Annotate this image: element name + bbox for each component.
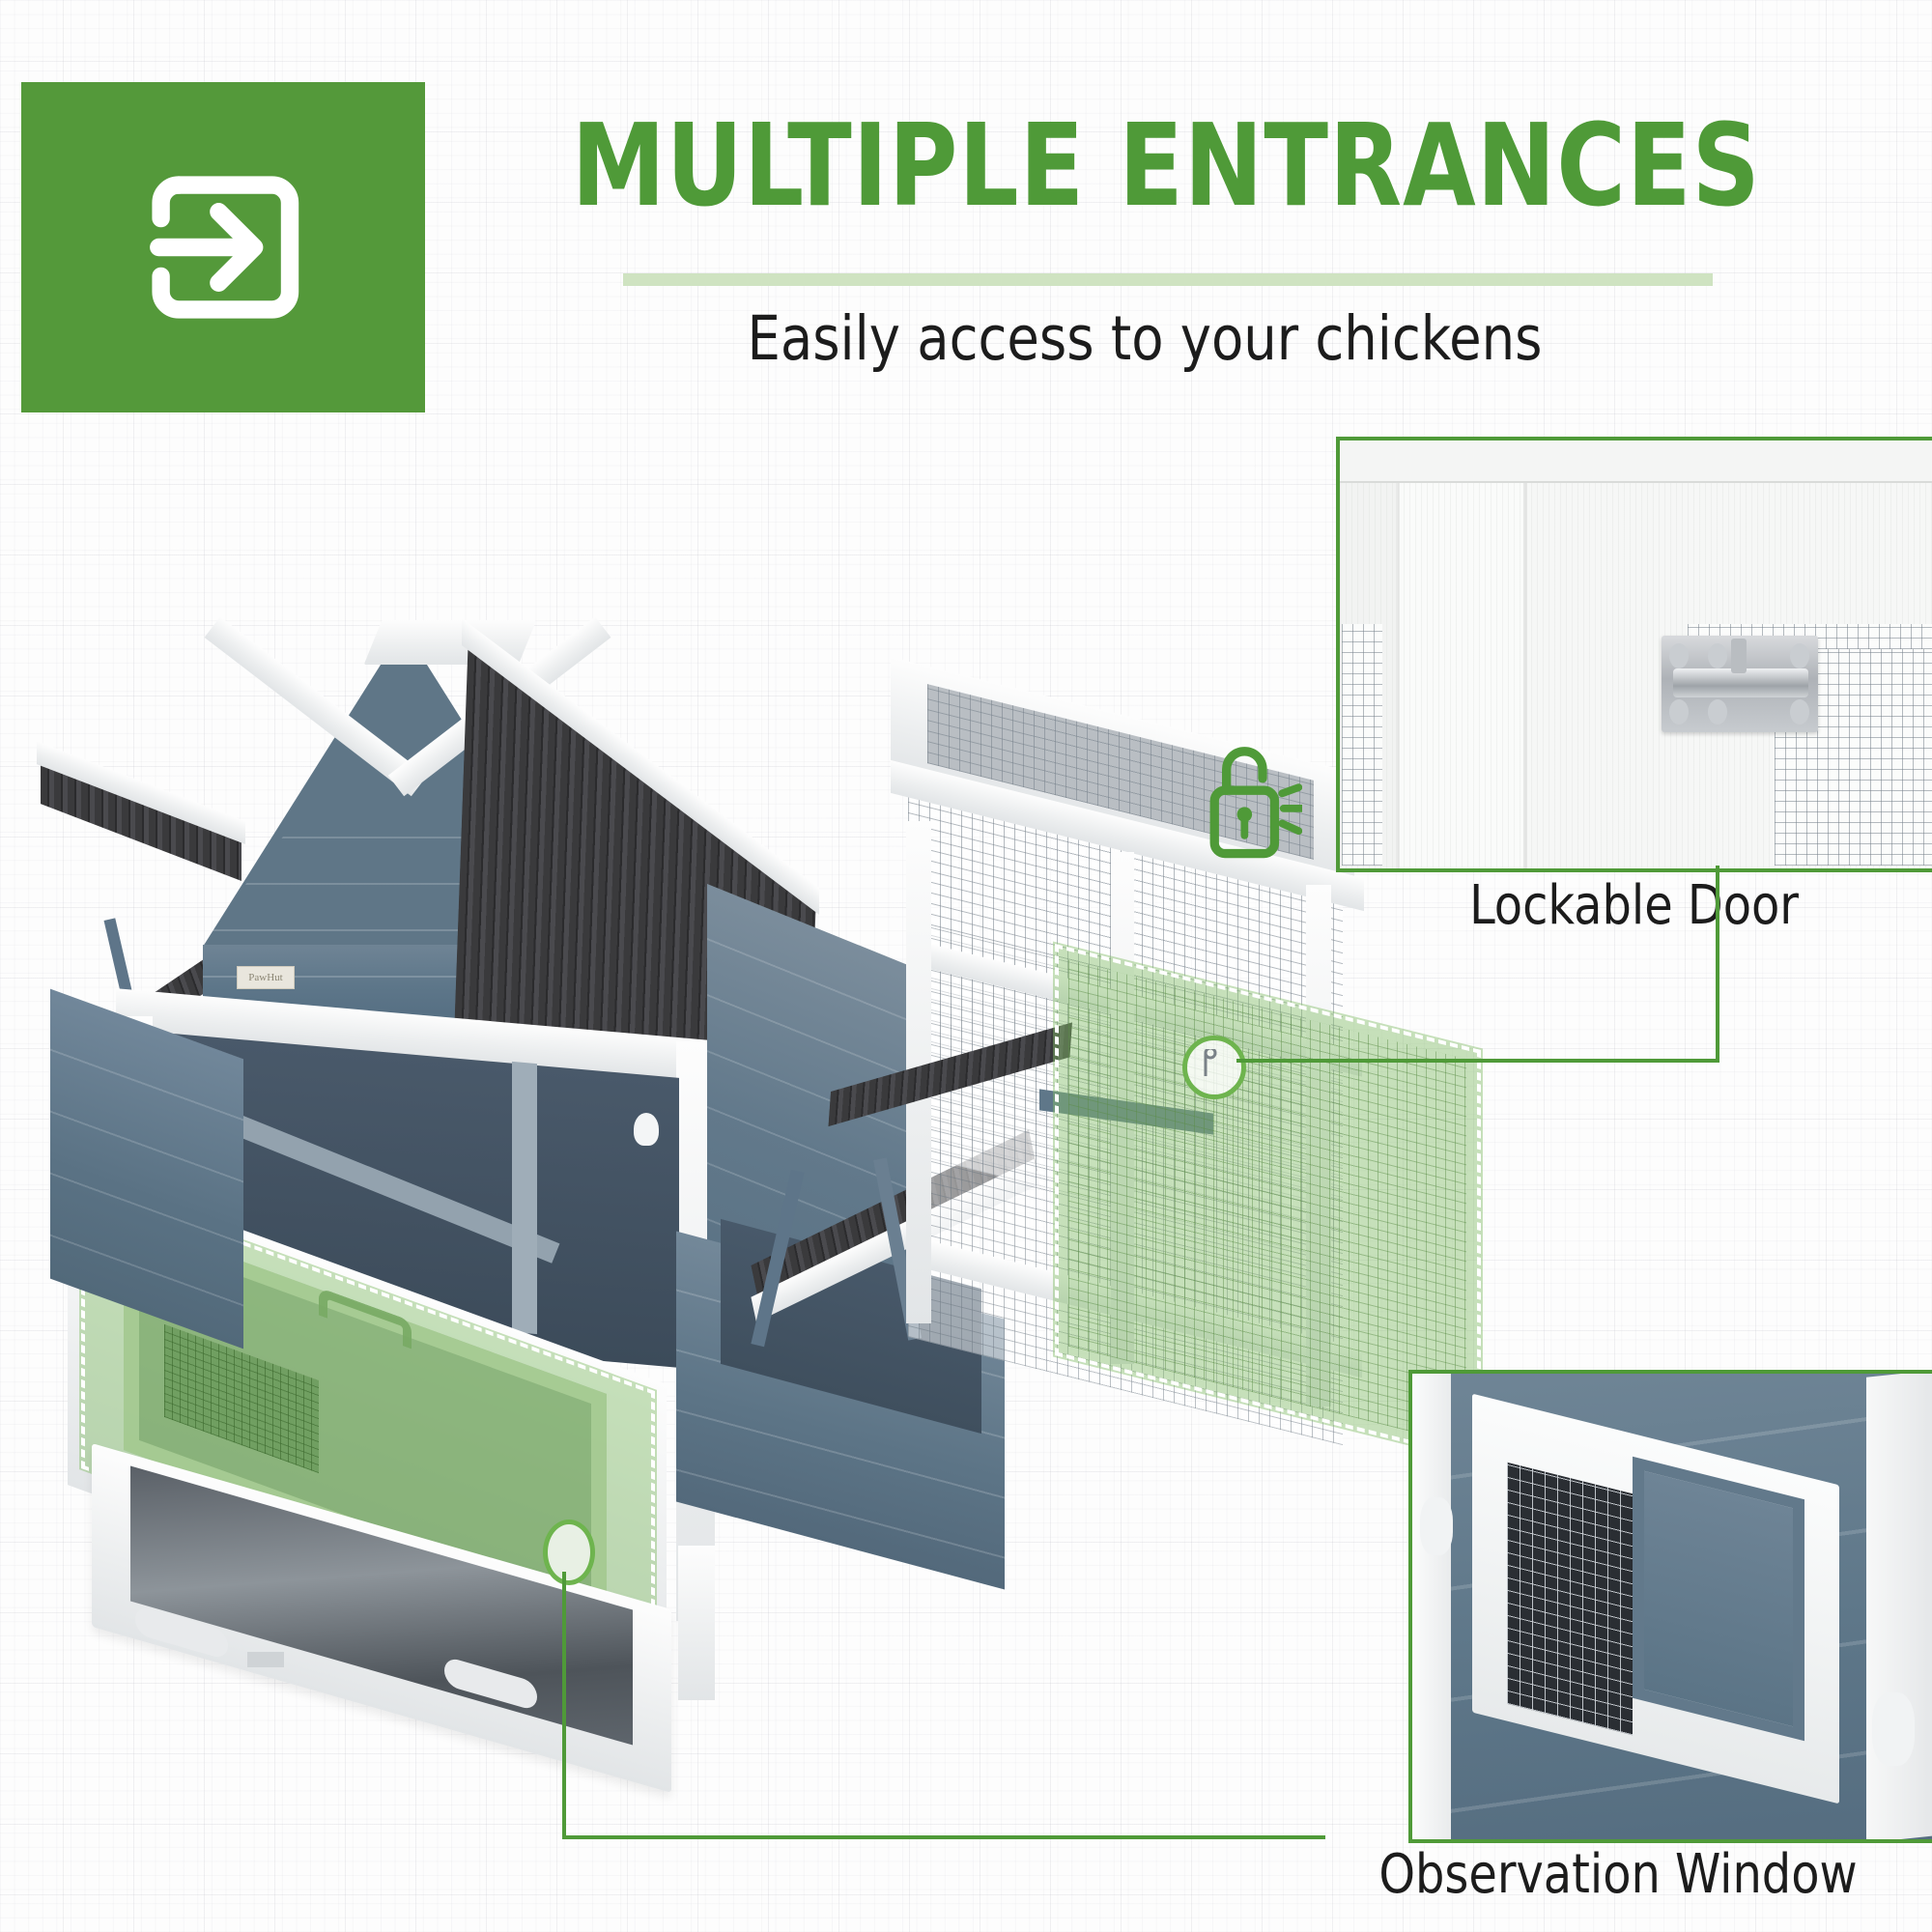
inset-observation-window-label: Observation Window [1320, 1843, 1917, 1906]
inset-lockable-door [1336, 437, 1932, 872]
coop-knob-upper[interactable] [634, 1113, 659, 1146]
inset2-knob-lower[interactable] [1872, 1692, 1915, 1766]
inset1-mesh-left [1342, 624, 1382, 866]
callout-line-door-vertical [562, 1572, 566, 1838]
callout-line-latch-vertical [1716, 866, 1719, 1063]
latch-screw-6 [1790, 699, 1809, 724]
enter-arrow-icon [112, 136, 334, 358]
inset-observation-window [1408, 1370, 1932, 1843]
latch-knob[interactable] [1731, 639, 1747, 673]
observation-window-mesh [1507, 1463, 1633, 1735]
callout-line-door-horizontal [562, 1835, 1325, 1839]
page-title: MULTIPLE ENTRANCES [572, 108, 1719, 222]
observation-window-slider[interactable] [1633, 1457, 1804, 1741]
tray-stop-tab [247, 1652, 284, 1667]
inset2-knob-upper[interactable] [1420, 1497, 1453, 1555]
latch-screw-2 [1708, 643, 1727, 668]
latch-screw-4 [1669, 699, 1689, 724]
front-leg [678, 1546, 715, 1700]
unlocked-padlock-icon [1196, 730, 1302, 866]
title-divider [623, 273, 1713, 286]
brand-tag: PawHut [237, 966, 295, 989]
inset-lockable-door-label: Lockable Door [1350, 874, 1917, 937]
inset2-left-post [1412, 1374, 1451, 1839]
coop-interior-post [512, 1062, 537, 1334]
infographic-canvas: MULTIPLE ENTRANCES Easily access to your… [0, 0, 1932, 1932]
inset2-right-post [1866, 1370, 1932, 1843]
callout-line-latch-horizontal [1236, 1059, 1719, 1063]
latch-screw-5 [1708, 699, 1727, 724]
latch-screw-1 [1669, 643, 1689, 668]
feature-badge [21, 82, 425, 412]
inset1-top-rail [1340, 440, 1932, 483]
page-subtitle: Easily access to your chickens [547, 305, 1743, 372]
run-door-latch-glyph [1200, 1049, 1221, 1078]
front-door-marker [543, 1520, 595, 1585]
latch-screw-3 [1790, 643, 1809, 668]
